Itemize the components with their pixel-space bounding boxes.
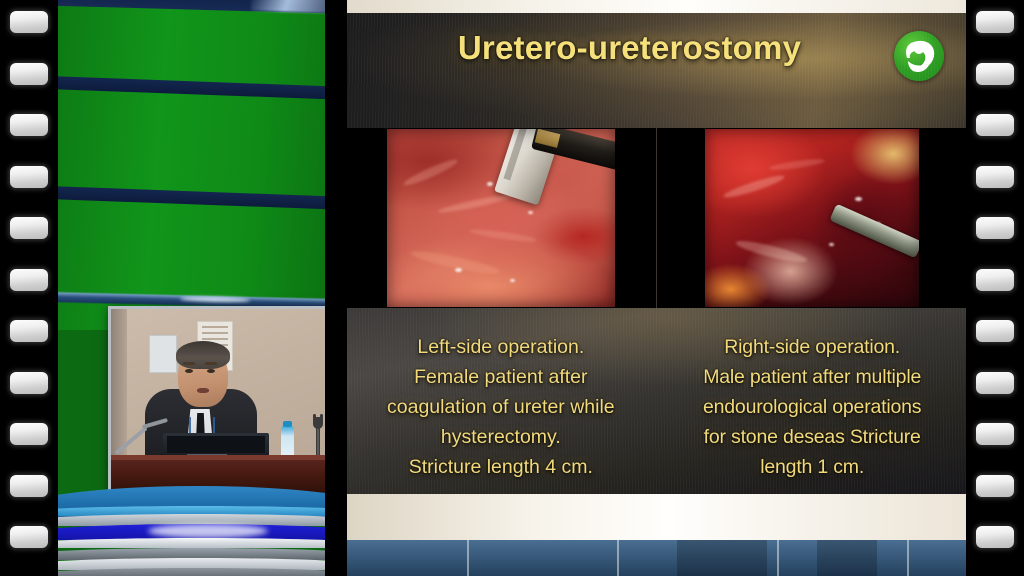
studio-green-backdrop: [58, 0, 325, 330]
rail-shine: [180, 296, 250, 303]
presenter-mouth: [197, 388, 209, 393]
left-caption-block: Left-side operation. Female patient afte…: [347, 308, 655, 494]
film-sprocket-hole: [10, 166, 48, 188]
film-sprocket-hole: [976, 372, 1014, 394]
ornament-top: [313, 417, 323, 429]
caption-line: Male patient after multiple: [672, 362, 952, 392]
caption-line: Female patient after: [361, 362, 641, 392]
backdrop-navy-stripe-1: [58, 76, 325, 101]
caption-line: Stricture length 4 cm.: [361, 452, 641, 482]
microphone-stand: [117, 397, 161, 455]
specular-highlight: [876, 222, 881, 230]
laparoscopic-grasper-jaw: [494, 129, 561, 205]
tissue-fiber: [469, 228, 538, 245]
specular-highlight: [455, 268, 462, 272]
film-sprocket-hole: [10, 269, 48, 291]
right-image-cell: [658, 128, 966, 308]
surgical-retractor: [830, 203, 919, 257]
virtual-studio-panel: [58, 0, 325, 576]
podium-ornament: [313, 417, 323, 459]
podium-edge: [111, 455, 325, 460]
virtual-studio-desk: [58, 484, 325, 576]
tissue-fiber: [437, 192, 514, 215]
film-sprocket-hole: [10, 526, 48, 548]
specular-highlight: [510, 279, 515, 282]
specular-highlight: [829, 243, 834, 246]
film-sprocket-hole: [976, 269, 1014, 291]
green-circle-logo: [894, 31, 944, 81]
bottle-cap: [283, 421, 292, 427]
film-sprocket-hole: [976, 320, 1014, 342]
caption-line: Right-side operation.: [672, 332, 952, 362]
laptop-screen: [167, 436, 265, 453]
slide-title-bar: Uretero-ureterostomy: [347, 13, 966, 128]
mic-rod-lower: [114, 426, 147, 455]
film-sprocket-hole: [976, 11, 1014, 33]
presenter-brow-right: [205, 362, 217, 365]
laparoscopic-instrument-shaft: [531, 129, 615, 170]
caption-line: endourological operations: [672, 392, 952, 422]
film-sprocket-hole: [10, 114, 48, 136]
tissue-fiber: [401, 157, 459, 189]
film-strip-right: [966, 0, 1024, 576]
caption-line: coagulation of ureter while: [361, 392, 641, 422]
film-sprocket-hole: [976, 423, 1014, 445]
caption-line: length 1 cm.: [672, 452, 952, 482]
slide-caption-bar: Left-side operation. Female patient afte…: [347, 308, 966, 494]
left-image-cell: [347, 128, 655, 308]
desk-green-accents: [58, 534, 76, 560]
presentation-slide[interactable]: Uretero-ureterostomy: [347, 13, 966, 494]
film-sprocket-hole: [976, 114, 1014, 136]
image-cell-divider: [656, 128, 657, 308]
open-right-side-operation-photo: [705, 129, 919, 307]
presenter-eye-left: [185, 369, 193, 373]
film-sprocket-hole: [976, 526, 1014, 548]
tissue-fiber: [410, 248, 501, 277]
presenter-brow-left: [183, 362, 195, 365]
specular-highlight: [855, 197, 862, 201]
film-strip-left: [0, 0, 58, 576]
tissue-fiber: [735, 238, 808, 266]
surgical-field-left: [387, 129, 615, 307]
laparoscopic-left-side-operation-photo: [387, 129, 615, 307]
film-sprocket-hole: [10, 423, 48, 445]
film-sprocket-hole: [10, 63, 48, 85]
tissue-fiber: [769, 157, 825, 172]
film-sprocket-hole: [10, 320, 48, 342]
instrument-gold-collar: [534, 129, 560, 147]
video-frame: Uretero-ureterostomy: [0, 0, 1024, 576]
presenter-podium-video[interactable]: [108, 306, 325, 498]
caption-line: hysterectomy.: [361, 422, 641, 452]
film-sprocket-hole: [10, 217, 48, 239]
slide-bottom-cream-band: [347, 494, 966, 540]
film-sprocket-hole: [976, 475, 1014, 497]
desk-band-white-1: [58, 538, 325, 548]
film-sprocket-hole: [10, 475, 48, 497]
film-sprocket-hole: [976, 217, 1014, 239]
presenter-eye-right: [207, 369, 215, 373]
surgical-field-right: [705, 129, 919, 307]
slide-image-row: [347, 128, 966, 308]
film-sprocket-hole: [976, 166, 1014, 188]
specular-highlight: [487, 182, 493, 186]
tissue-fiber: [723, 173, 787, 201]
caption-line: for stone deseas Stricture: [672, 422, 952, 452]
studio-pillar-divider: [325, 0, 347, 576]
page-title: Uretero-ureterostomy: [347, 29, 966, 67]
right-caption-block: Right-side operation. Male patient after…: [658, 308, 966, 494]
caption-line: Left-side operation.: [361, 332, 641, 362]
backdrop-navy-stripe-2: [58, 186, 325, 211]
desk-highlight: [148, 524, 268, 538]
studio-bottom-blue-bar: [347, 540, 966, 576]
desk-band-grey-2: [58, 568, 325, 576]
grasper-ridge: [504, 129, 528, 180]
film-sprocket-hole: [10, 372, 48, 394]
film-sprocket-hole: [10, 11, 48, 33]
slide-display-area: Uretero-ureterostomy: [347, 0, 966, 576]
film-sprocket-hole: [976, 63, 1014, 85]
specular-highlight: [528, 211, 533, 214]
